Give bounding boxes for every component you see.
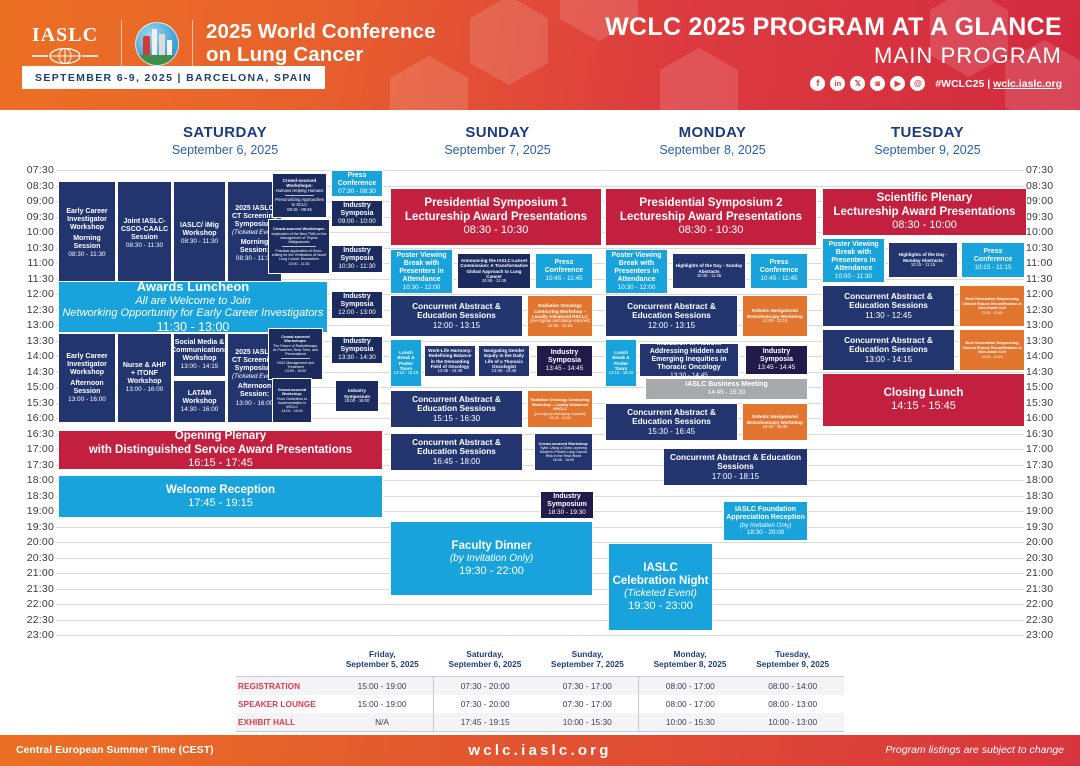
session-block[interactable]: IASLC Foundation Appreciation Reception …: [723, 501, 808, 541]
block-title: Press Conference: [964, 248, 1022, 264]
block-note: All are Welcome to Join: [135, 295, 250, 308]
block-title: Industry Symposia: [748, 348, 805, 364]
time-label-left: 08:30: [16, 180, 54, 192]
block-time: 17:00 - 18:15: [712, 472, 759, 481]
block-title: Navigating Gender Equity in the Daily Li…: [481, 348, 527, 369]
block-time: 10:15 - 11:15: [974, 264, 1011, 271]
block-title: Closing Lunch: [884, 387, 964, 400]
block-detail: From Guidelines to Implementation in NSC…: [275, 397, 309, 409]
hours-row-label: REGISTRATION: [236, 676, 331, 695]
hours-column-header: Monday,September 8, 2025: [639, 645, 742, 676]
time-label-right: 17:30: [1026, 459, 1064, 471]
session-block[interactable]: Crowd-sourced Workshop: From Guidelines …: [272, 378, 312, 423]
header-url[interactable]: wclc.iaslc.org: [993, 78, 1062, 90]
page-header: IASLC 2025 Wor: [0, 0, 1080, 110]
hours-table-header-row: Friday,September 5, 2025Saturday,Septemb…: [236, 645, 844, 676]
hours-cell: 10:00 - 15:30: [536, 713, 639, 732]
block-title: Faculty Dinner: [452, 540, 532, 553]
block-title: Scientific Plenary: [877, 192, 973, 205]
hours-col-day: Friday,: [369, 649, 396, 659]
grid-row-line: [56, 604, 1024, 605]
time-label-right: 15:00: [1026, 381, 1064, 393]
session-block[interactable]: Concurrent Abstract & Education Sessions…: [390, 390, 523, 428]
session-block[interactable]: Highlights of the Day - Sunday Abstracts…: [672, 253, 746, 289]
time-label-right: 12:30: [1026, 304, 1064, 316]
block-title: Next Generation Sequencing Clinical Repo…: [962, 297, 1022, 310]
session-block[interactable]: Welcome Reception 17:45 - 19:15: [58, 475, 383, 518]
time-label-right: 10:30: [1026, 242, 1064, 254]
session-block[interactable]: Presidential Symposium 2 Lectureship Awa…: [605, 188, 817, 246]
day-name: TUESDAY: [820, 124, 1035, 141]
date-location-badge: SEPTEMBER 6-9, 2025 | BARCELONA, SPAIN: [22, 66, 325, 89]
day-name: SUNDAY: [390, 124, 605, 141]
hashtag-label: #WCLC25 | wclc.iaslc.org: [935, 78, 1062, 90]
iaslc-globe-icon: [22, 48, 108, 64]
time-label-right: 21:00: [1026, 567, 1064, 579]
time-label-left: 22:30: [16, 614, 54, 626]
session-block[interactable]: Industry Symposium 18:30 - 19:30: [540, 491, 594, 519]
session-block[interactable]: Industry Symposia 10:30 - 11:30: [331, 245, 383, 273]
time-label-right: 14:30: [1026, 366, 1064, 378]
block-time: 15:15 - 16:30: [549, 416, 570, 420]
block-title: Concurrent Abstract & Education Sessions: [393, 395, 520, 414]
time-label-left: 20:00: [16, 536, 54, 548]
hours-col-date: September 7, 2025: [551, 659, 624, 669]
time-label-left: 21:30: [16, 583, 54, 595]
block-title: Work-Life Harmony: Redefining Balance in…: [427, 348, 473, 369]
time-label-right: 09:00: [1026, 195, 1064, 207]
day-header-monday: MONDAY September 8, 2025: [605, 124, 820, 157]
hours-cell: 08:00 - 13:00: [741, 695, 844, 713]
instagram-icon[interactable]: ◙: [870, 76, 885, 91]
time-label-right: 11:00: [1026, 257, 1064, 269]
block-title-2: Lectureship Award Presentations: [405, 211, 587, 224]
time-label-left: 17:30: [16, 459, 54, 471]
hours-table-row: EXHIBIT HALLN/A17:45 - 19:1510:00 - 15:3…: [236, 713, 844, 732]
conference-title: 2025 World Conference on Lung Cancer: [206, 21, 436, 67]
session-block[interactable]: Social Media & Communications Workshop 1…: [173, 333, 226, 377]
hours-cell: 08:00 - 14:00: [741, 676, 844, 695]
session-block[interactable]: Scientific Plenary Lectureship Award Pre…: [822, 188, 1027, 236]
block-time: 15:30 - 16:45: [648, 427, 695, 436]
time-label-right: 12:00: [1026, 288, 1064, 300]
logo-divider-2: [192, 20, 193, 68]
session-block[interactable]: Presidential Symposium 1 Lectureship Awa…: [390, 188, 602, 246]
facebook-icon[interactable]: f: [810, 76, 825, 91]
block-title: IASLC Foundation Appreciation Reception: [726, 506, 805, 522]
session-block[interactable]: LATAM Workshop 14:30 - 16:00: [173, 380, 226, 423]
time-label-right: 16:30: [1026, 428, 1064, 440]
day-date: September 8, 2025: [605, 143, 820, 157]
session-block[interactable]: IASLC Celebration Night (Ticketed Event)…: [608, 543, 713, 631]
session-block[interactable]: Industry Symposia 12:00 - 13:00: [331, 291, 383, 319]
block-time: 13:45 - 14:45: [758, 364, 796, 371]
session-block[interactable]: IASLC Business Meeting 14:45 - 15:30: [645, 378, 808, 400]
block-title: Awards Luncheon: [137, 281, 249, 295]
block-title: Joint IASLC-CSCO-CAALC Session: [120, 218, 169, 242]
hours-col-date: September 9, 2025: [756, 659, 829, 669]
time-label-left: 23:00: [16, 629, 54, 641]
block-time: 10:15 - 11:15: [911, 263, 935, 268]
session-block[interactable]: Crowd-sourced Workshop: Sybil: Using a D…: [534, 433, 593, 471]
block-time: 16:15 - 17:45: [188, 457, 253, 470]
block-time: 11:30 - 13:00: [157, 320, 230, 333]
session-block[interactable]: Next Generation Sequencing Clinical Repo…: [959, 329, 1025, 371]
session-block[interactable]: Industry Symposium 15:00 - 16:00: [335, 380, 379, 412]
block-time: 08:30 - 10:00: [892, 219, 957, 232]
hashtag-text: #WCLC25 |: [935, 78, 993, 90]
block-detail: The Future of Radiotherapy: AI-Powered, …: [271, 344, 320, 356]
block-time: 11:30 - 12:45: [865, 311, 912, 320]
conference-title-line1: 2025 World Conference: [206, 21, 436, 44]
block-time: 17:45 - 19:15: [188, 497, 253, 510]
block-time: 13:00 - 16:00: [236, 400, 274, 407]
block-title: Concurrent Abstract & Education Sessions: [393, 438, 520, 457]
block-time: 18:30 - 19:30: [548, 509, 586, 516]
block-title: Lunch Break & Poster Tours: [393, 350, 419, 371]
time-label-left: 18:00: [16, 474, 54, 486]
block-title: Concurrent Abstract & Education Sessions: [666, 453, 805, 472]
block-time: 08:30 - 11:30: [181, 238, 218, 245]
day-date: September 7, 2025: [390, 143, 605, 157]
block-time: 13:30 - 14:30: [338, 354, 376, 361]
hours-col-day: Monday,: [674, 649, 707, 659]
block-title-2: with Distinguished Service Award Present…: [89, 444, 352, 457]
time-label-right: 08:30: [1026, 180, 1064, 192]
block-title: Industry Symposia: [539, 349, 590, 365]
time-label-left: 21:00: [16, 567, 54, 579]
hours-col-date: September 6, 2025: [448, 659, 521, 669]
block-time: 10:30 - 11:30: [338, 263, 375, 270]
session-block[interactable]: Highlights of the Day - Monday Abstracts…: [888, 242, 958, 278]
session-block[interactable]: Lunch Break & Poster Tours 13:15 - 15:15: [390, 339, 422, 387]
iaslc-logo: IASLC 2025 Wor: [22, 20, 436, 68]
x-twitter-icon[interactable]: 𝕏: [850, 76, 865, 91]
block-title: Poster Viewing Break with Presenters in …: [608, 252, 665, 284]
time-label-left: 13:30: [16, 335, 54, 347]
time-label-left: 07:30: [16, 164, 54, 176]
block-title: Radiation Oncology Contouring Workshop –…: [530, 303, 590, 319]
time-label-left: 16:30: [16, 428, 54, 440]
block-time: 16:45 - 18:00: [433, 457, 480, 466]
session-block[interactable]: Press Conference 10:45 - 11:45: [535, 253, 593, 289]
hours-table-body: REGISTRATION15:00 - 19:0007:30 - 20:0007…: [236, 676, 844, 731]
time-label-right: 18:30: [1026, 490, 1064, 502]
time-label-right: 11:30: [1026, 273, 1064, 285]
block-time: 13:45 - 14:45: [438, 369, 463, 374]
time-label-left: 14:30: [16, 366, 54, 378]
hours-cell: N/A: [331, 713, 434, 732]
hours-col-day: Saturday,: [466, 649, 503, 659]
hours-row-label: EXHIBIT HALL: [236, 713, 331, 732]
hours-cell: 07:30 - 17:00: [536, 676, 639, 695]
block-time: 18:30 - 20:00: [747, 529, 785, 536]
session-block[interactable]: Crowd-sourced Workshops: Implication of …: [268, 219, 330, 274]
session-block[interactable]: Awards Luncheon All are Welcome to Join …: [58, 281, 328, 333]
disclaimer-note: Program listings are subject to change: [885, 744, 1064, 756]
block-time: 09:00 - 10:00: [338, 218, 376, 225]
time-label-left: 12:30: [16, 304, 54, 316]
social-links: f in 𝕏 ◙ ▶ @ #WCLC25 | wclc.iaslc.org: [605, 76, 1062, 91]
block-title: Early Career Investigator Workshop: [61, 208, 113, 232]
conference-title-line2: on Lung Cancer: [206, 44, 436, 67]
time-label-right: 21:30: [1026, 583, 1064, 595]
block-time: 08:15 - 09:45: [287, 208, 312, 213]
block-title: Radiation Oncology Contouring Workshop –…: [530, 398, 590, 411]
session-block[interactable]: Industry Symposia 09:00 - 10:00: [331, 200, 383, 227]
hours-cell: 07:30 - 17:00: [536, 695, 639, 713]
time-label-left: 11:30: [16, 273, 54, 285]
time-label-left: 11:00: [16, 257, 54, 269]
time-label-right: 20:30: [1026, 552, 1064, 564]
session-block[interactable]: Early Career Investigator Workshop After…: [58, 333, 116, 423]
block-title: Industry Symposia: [334, 338, 380, 354]
block-title-2: Lectureship Award Presentations: [833, 206, 1015, 219]
barcelona-badge-icon: [135, 22, 179, 66]
session-block[interactable]: Work-Life Harmony: Redefining Balance in…: [424, 345, 476, 377]
block-title: Industry Symposia: [334, 293, 380, 309]
block-title: Industry Symposium: [543, 493, 591, 509]
block-time: 08:30 - 11:30: [68, 251, 105, 258]
day-header-saturday: SATURDAY September 6, 2025: [60, 124, 390, 157]
session-block[interactable]: Press Conference 10:15 - 11:15: [961, 242, 1025, 278]
hours-col-day: Tuesday,: [775, 649, 810, 659]
logo-divider-1: [121, 20, 122, 68]
time-label-right: 14:00: [1026, 350, 1064, 362]
session-block[interactable]: Crowd-sourced Workshops: Humans Helping …: [272, 173, 327, 218]
block-time: 10:00 - 11:30: [835, 273, 872, 280]
session-block[interactable]: Joint IASLC-CSCO-CAALC Session 08:30 - 1…: [117, 181, 172, 286]
session-block[interactable]: Navigating Gender Equity in the Daily Li…: [478, 345, 530, 377]
block-time: 15:30 - 16:45: [763, 425, 788, 430]
block-time: 12:00 - 13:00: [338, 309, 376, 316]
block-time: 08:30 - 10:30: [464, 224, 529, 237]
time-label-right: 22:30: [1026, 614, 1064, 626]
session-block[interactable]: Concurrent Abstract & Education Sessions…: [663, 448, 808, 486]
hours-cell: 08:00 - 17:00: [639, 695, 742, 713]
block-title: Social Media & Communications Workshop: [173, 339, 226, 363]
day-header-sunday: SUNDAY September 7, 2025: [390, 124, 605, 157]
day-date: September 9, 2025: [820, 143, 1035, 157]
threads-icon[interactable]: @: [910, 76, 925, 91]
block-time: 10:00 - 11:30: [289, 262, 310, 266]
session-block[interactable]: Concurrent Abstract & Education Sessions…: [390, 295, 523, 337]
time-label-right: 07:30: [1026, 164, 1064, 176]
time-label-right: 09:30: [1026, 211, 1064, 223]
session-block[interactable]: Robotic Navigational Bronchoscopy Worksh…: [742, 403, 808, 441]
session-block[interactable]: Concurrent Abstract & Education Sessions…: [605, 403, 738, 441]
session-block[interactable]: Announcing the IASLC-Lancet Commission: …: [457, 253, 531, 289]
hours-cell: 15:00 - 19:00: [331, 695, 434, 713]
grid-row-line: [56, 170, 1024, 171]
block-time: 13:15 - 15:15: [609, 371, 634, 376]
time-label-right: 13:30: [1026, 335, 1064, 347]
session-block[interactable]: Robotic Navigational Bronchoscopy Worksh…: [742, 295, 808, 337]
block-title: Opening Plenary: [175, 430, 266, 443]
block-time: 10:45 - 11:45: [545, 275, 582, 282]
hours-corner-cell: [236, 645, 331, 676]
session-block[interactable]: Poster Viewing Break with Presenters in …: [822, 238, 885, 283]
block-time: 15:00 - 16:00: [345, 399, 370, 404]
time-label-right: 19:00: [1026, 505, 1064, 517]
block-time: 13:00 - 15:00: [285, 369, 306, 373]
session-block[interactable]: Inclusion in Action: Addressing Hidden a…: [639, 343, 739, 377]
session-block[interactable]: Concurrent Abstract & Education Sessions…: [605, 295, 738, 337]
session-block[interactable]: Concurrent Abstract & Education Sessions…: [822, 329, 955, 371]
iaslc-wordmark: IASLC: [22, 24, 108, 64]
hours-table-row: SPEAKER LOUNGE15:00 - 19:0007:30 - 20:00…: [236, 695, 844, 713]
block-subtitle: Afternoon Session: [61, 380, 113, 396]
time-label-left: 09:00: [16, 195, 54, 207]
block-title: Press Conference: [538, 259, 590, 275]
session-block[interactable]: Poster Viewing Break with Presenters in …: [390, 249, 453, 294]
block-time: 08:30 - 10:30: [679, 224, 744, 237]
day-date: September 6, 2025: [60, 143, 390, 157]
block-title: Presidential Symposium 2: [639, 197, 782, 210]
facility-hours-table: Friday,September 5, 2025Saturday,Septemb…: [236, 645, 844, 732]
session-block[interactable]: Nurse & AHP + ITONF Workshop 13:00 - 16:…: [117, 333, 172, 423]
linkedin-icon[interactable]: in: [830, 76, 845, 91]
hours-column-header: Tuesday,September 9, 2025: [741, 645, 844, 676]
block-note: (by Invitation Only): [740, 522, 792, 529]
session-block[interactable]: Industry Symposia 13:45 - 14:45: [745, 345, 808, 375]
hours-cell: 17:45 - 19:15: [434, 713, 537, 732]
day-name: SATURDAY: [60, 124, 390, 141]
time-label-left: 19:00: [16, 505, 54, 517]
session-block[interactable]: IASLC/ iMig Workshop 08:30 - 11:30: [173, 181, 226, 286]
block-title: Early Career Investigator Workshop: [61, 353, 113, 377]
page-subtitle: MAIN PROGRAM: [605, 43, 1062, 69]
block-time: 19:30 - 22:00: [459, 565, 524, 578]
block-time: 10:30 - 12:00: [618, 284, 656, 291]
block-title: Poster Viewing Break with Presenters in …: [825, 241, 882, 273]
session-block[interactable]: Industry Symposia 13:45 - 14:45: [536, 345, 593, 377]
time-label-left: 13:00: [16, 319, 54, 331]
hours-row-label: SPEAKER LOUNGE: [236, 695, 331, 713]
block-time: 12:00 - 13:15: [548, 324, 573, 329]
session-block[interactable]: Radiation Oncology Contouring Workshop –…: [527, 295, 593, 337]
time-label-right: 15:30: [1026, 397, 1064, 409]
time-label-left: 19:30: [16, 521, 54, 533]
hours-cell: 07:30 - 20:00: [434, 676, 537, 695]
session-block[interactable]: Concurrent Abstract & Education Sessions…: [390, 433, 523, 471]
block-title: Announcing the IASLC-Lancet Commission: …: [460, 258, 528, 279]
hours-cell: 15:00 - 19:00: [331, 676, 434, 695]
block-title: Press Conference: [334, 172, 380, 188]
block-title: Concurrent Abstract & Education Sessions: [608, 302, 735, 321]
session-block[interactable]: Press Conference 10:45 - 11:45: [750, 253, 808, 289]
time-label-left: 20:30: [16, 552, 54, 564]
block-time: 12:00 - 13:15: [433, 321, 480, 330]
block-time: 15:15 - 16:30: [433, 414, 480, 423]
hours-col-date: September 8, 2025: [654, 659, 727, 669]
session-block[interactable]: Next Generation Sequencing Clinical Repo…: [959, 285, 1025, 327]
block-detail: Practical Application of Gene-editing fo…: [271, 249, 327, 261]
page-footer: Central European Summer Time (CEST) wclc…: [0, 735, 1080, 766]
block-title: Nurse & AHP + ITONF Workshop: [120, 362, 169, 386]
schedule-grid: 07:3007:3008:3008:3009:0009:0009:3009:30…: [0, 165, 1080, 637]
time-label-right: 18:00: [1026, 474, 1064, 486]
session-block[interactable]: Poster Viewing Break with Presenters in …: [605, 249, 668, 294]
grid-row-line: [56, 620, 1024, 621]
session-block[interactable]: Lunch Break & Poster Tours 13:15 - 15:15: [605, 339, 637, 387]
block-time: 14:30 - 16:00: [181, 406, 219, 413]
block-note: Networking Opportunity for Early Career …: [62, 307, 323, 320]
session-block[interactable]: Radiation Oncology Contouring Workshop –…: [527, 390, 593, 428]
session-block[interactable]: Early Career Investigator Workshop Morni…: [58, 181, 116, 286]
hours-column-header: Saturday,September 6, 2025: [434, 645, 537, 676]
block-detail: Humans Helping Humans: [276, 189, 324, 194]
time-label-left: 22:00: [16, 598, 54, 610]
grid-row-line: [56, 635, 1024, 636]
session-block[interactable]: Industry Symposia 13:30 - 14:30: [331, 336, 383, 364]
block-title: Industry Symposia: [334, 247, 380, 263]
session-block[interactable]: Closing Lunch 14:15 - 15:45: [822, 373, 1025, 427]
session-block[interactable]: Faculty Dinner (by Invitation Only) 19:3…: [390, 521, 593, 596]
time-label-right: 19:30: [1026, 521, 1064, 533]
block-note: (by Invitation Only): [450, 553, 533, 565]
page-title: WCLC 2025 PROGRAM AT A GLANCE: [605, 13, 1062, 42]
block-title: IASLC/ iMig Workshop: [176, 222, 223, 238]
block-title: Press Conference: [753, 259, 805, 275]
time-label-right: 13:00: [1026, 319, 1064, 331]
session-block[interactable]: Crowd-sourced Workshops: The Future of R…: [268, 328, 323, 380]
block-subtitle: Morning Session: [61, 235, 113, 251]
time-label-right: 20:00: [1026, 536, 1064, 548]
block-title: Concurrent Abstract & Education Sessions: [825, 336, 952, 355]
block-time: 19:30 - 23:00: [628, 600, 693, 613]
time-label-left: 10:30: [16, 242, 54, 254]
block-title: Lunch Break & Poster Tours: [608, 350, 634, 371]
hours-cell: 10:00 - 13:00: [741, 713, 844, 732]
block-title: Welcome Reception: [166, 484, 275, 497]
block-title: Concurrent Abstract & Education Sessions: [608, 408, 735, 427]
header-right: WCLC 2025 PROGRAM AT A GLANCE MAIN PROGR…: [605, 13, 1062, 91]
block-title-2: Lectureship Award Presentations: [620, 211, 802, 224]
time-label-left: 18:30: [16, 490, 54, 502]
time-label-left: 12:00: [16, 288, 54, 300]
time-label-left: 15:00: [16, 381, 54, 393]
session-block[interactable]: Opening Plenary with Distinguished Servi…: [58, 430, 383, 470]
block-time: 14:00 - 16:00: [281, 409, 302, 413]
youtube-icon[interactable]: ▶: [890, 76, 905, 91]
block-note: (Ticketed Event): [624, 588, 697, 600]
block-title: IASLC Celebration Night: [611, 562, 710, 588]
block-title: Presidential Symposium 1: [424, 197, 567, 210]
block-time: 10:45 - 11:45: [697, 274, 721, 279]
time-label-right: 23:00: [1026, 629, 1064, 641]
block-title: Inclusion in Action: Addressing Hidden a…: [642, 343, 736, 372]
block-title: Industry Symposia: [334, 202, 380, 218]
block-time: 13:45 - 14:45: [492, 369, 517, 374]
block-title: Crowd-sourced Workshop:: [275, 388, 309, 397]
block-detail: Implication of the New TNM on the Manage…: [271, 232, 327, 244]
session-block[interactable]: Concurrent Abstract & Education Sessions…: [822, 285, 955, 327]
hours-col-date: September 5, 2025: [346, 659, 419, 669]
block-time: 13:00 - 14:15: [981, 355, 1002, 359]
block-time: 13:15 - 15:15: [394, 371, 419, 376]
time-label-right: 10:00: [1026, 226, 1064, 238]
block-time: 13:00 - 16:00: [126, 386, 164, 393]
block-time: 07:30 - 08:30: [338, 188, 376, 195]
time-label-left: 15:30: [16, 397, 54, 409]
block-time: 13:00 - 16:00: [68, 396, 106, 403]
hours-column-header: Sunday,September 7, 2025: [536, 645, 639, 676]
hours-cell: 07:30 - 20:00: [434, 695, 537, 713]
block-time: 10:45 - 11:45: [482, 279, 506, 284]
iaslc-abbr: IASLC: [22, 24, 108, 47]
session-block[interactable]: Press Conference 07:30 - 08:30: [331, 170, 383, 197]
